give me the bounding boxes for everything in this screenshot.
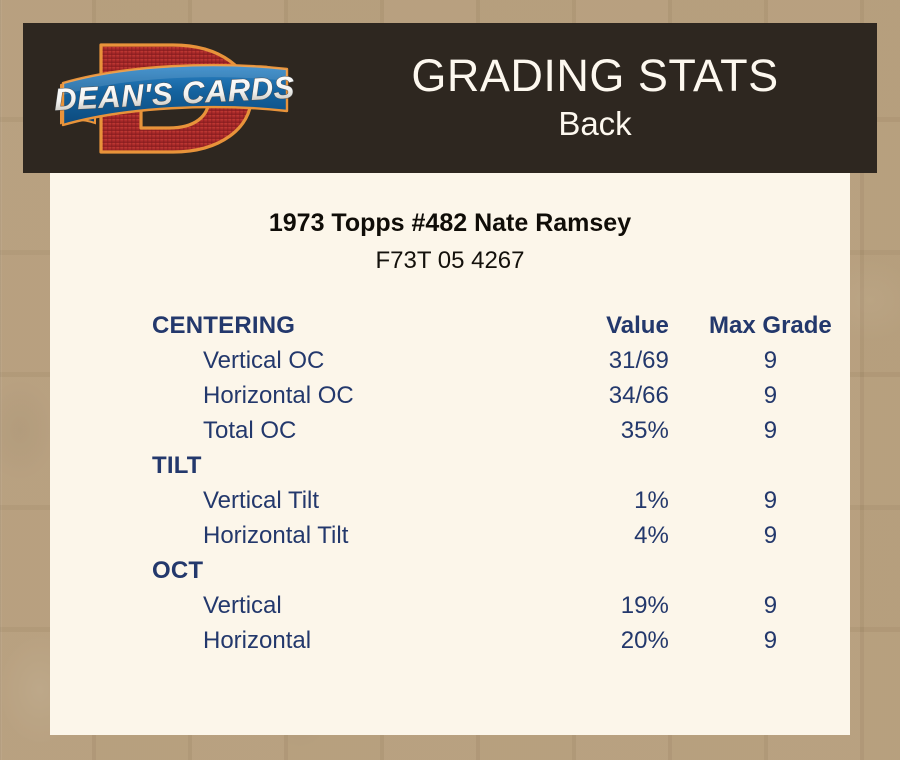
header-bar: DEAN'S CARDS GRADING STATS Back (23, 23, 877, 173)
column-header-value: Value (529, 308, 691, 343)
section-value-spacer (529, 448, 691, 483)
table-row: Horizontal Tilt 4% 9 (50, 518, 850, 553)
stat-value: 19% (529, 588, 691, 623)
stat-label: Vertical OC (50, 343, 529, 378)
stat-label: Horizontal OC (50, 378, 529, 413)
stat-max-grade: 9 (691, 518, 850, 553)
card-title: 1973 Topps #482 Nate Ramsey (50, 209, 850, 238)
section-label-oct: OCT (50, 553, 529, 588)
stat-label: Horizontal Tilt (50, 518, 529, 553)
section-label-centering: CENTERING (50, 308, 529, 343)
table-row: Horizontal 20% 9 (50, 623, 850, 658)
stat-max-grade: 9 (691, 413, 850, 448)
stats-table-body: CENTERING Value Max Grade Vertical OC 31… (50, 308, 850, 658)
header-title-block: GRADING STATS Back (313, 23, 877, 173)
grading-stats-table: CENTERING Value Max Grade Vertical OC 31… (50, 308, 850, 658)
table-row: Total OC 35% 9 (50, 413, 850, 448)
section-grade-spacer (691, 448, 850, 483)
stat-max-grade: 9 (691, 623, 850, 658)
stat-value: 1% (529, 483, 691, 518)
stat-value: 4% (529, 518, 691, 553)
table-row: Horizontal OC 34/66 9 (50, 378, 850, 413)
stat-label: Horizontal (50, 623, 529, 658)
deans-cards-logo-svg: DEAN'S CARDS (55, 31, 305, 166)
column-header-max-grade: Max Grade (691, 308, 850, 343)
table-section-header-centering: CENTERING Value Max Grade (50, 308, 850, 343)
table-row: Vertical 19% 9 (50, 588, 850, 623)
deans-cards-logo: DEAN'S CARDS (55, 31, 305, 166)
stat-value: 34/66 (529, 378, 691, 413)
section-label-tilt: TILT (50, 448, 529, 483)
table-section-header-oct: OCT (50, 553, 850, 588)
stat-value: 35% (529, 413, 691, 448)
card-serial-number: F73T 05 4267 (50, 247, 850, 275)
stat-max-grade: 9 (691, 483, 850, 518)
stat-label: Vertical (50, 588, 529, 623)
stat-value: 31/69 (529, 343, 691, 378)
stat-max-grade: 9 (691, 343, 850, 378)
page-subtitle: Back (558, 103, 631, 144)
page-title: GRADING STATS (411, 52, 778, 99)
section-grade-spacer (691, 553, 850, 588)
stat-label: Total OC (50, 413, 529, 448)
stat-label: Vertical Tilt (50, 483, 529, 518)
content-panel: 1973 Topps #482 Nate Ramsey F73T 05 4267… (50, 173, 850, 735)
stat-max-grade: 9 (691, 588, 850, 623)
table-row: Vertical OC 31/69 9 (50, 343, 850, 378)
table-row: Vertical Tilt 1% 9 (50, 483, 850, 518)
grading-stats-page: DEAN'S CARDS GRADING STATS Back 1973 Top… (0, 0, 900, 760)
stat-max-grade: 9 (691, 378, 850, 413)
section-value-spacer (529, 553, 691, 588)
table-section-header-tilt: TILT (50, 448, 850, 483)
stat-value: 20% (529, 623, 691, 658)
